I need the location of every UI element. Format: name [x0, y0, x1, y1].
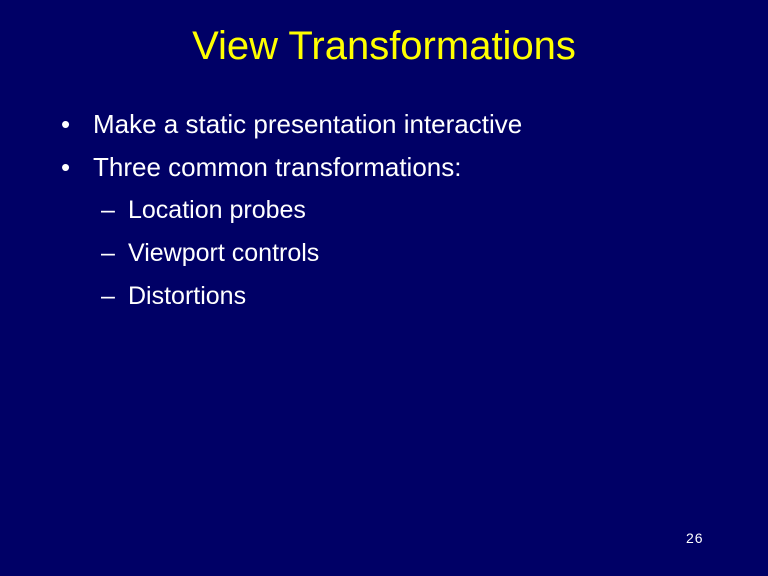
bullet-list: • Make a static presentation interactive… — [0, 103, 768, 318]
page-number: 26 — [686, 529, 704, 547]
sub-list-item-label: Viewport controls — [128, 232, 319, 275]
dash-bullet-marker: – — [101, 232, 115, 275]
sub-list-item: – Location probes — [0, 189, 768, 232]
dash-bullet-marker: – — [101, 275, 115, 318]
list-item-label: Make a static presentation interactive — [93, 103, 522, 146]
round-bullet-marker: • — [61, 146, 70, 189]
sub-list-item-label: Distortions — [128, 275, 246, 318]
list-item-label: Three common transformations: — [93, 146, 461, 189]
sub-list-item: – Distortions — [0, 275, 768, 318]
round-bullet-marker: • — [61, 103, 70, 146]
list-item: • Three common transformations: — [0, 146, 768, 189]
page-title: View Transformations — [0, 24, 768, 68]
presentation-slide: View Transformations • Make a static pre… — [0, 0, 768, 576]
dash-bullet-marker: – — [101, 189, 115, 232]
sub-list-item: – Viewport controls — [0, 232, 768, 275]
sub-list-item-label: Location probes — [128, 189, 306, 232]
list-item: • Make a static presentation interactive — [0, 103, 768, 146]
